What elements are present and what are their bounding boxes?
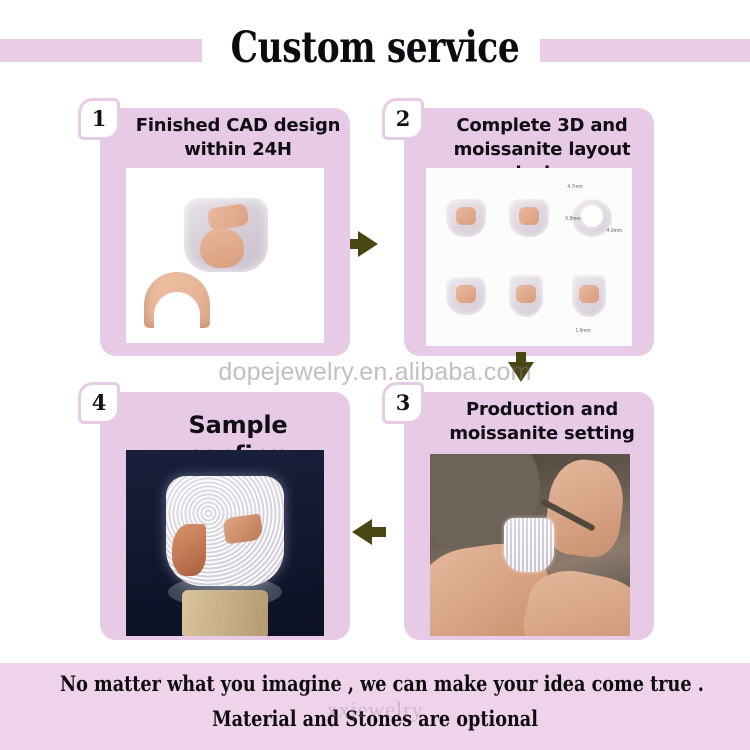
step-image-3 [430,454,630,636]
custom-service-infographic: Custom service 1 Finished CAD design wit… [0,0,750,750]
step-number-2: 2 [385,101,421,137]
layout-view-bottom [438,260,495,332]
ring-view-icon [509,199,549,237]
layout-view-front-dimensioned: 1.6mm [563,260,620,332]
ring-view-icon [509,275,543,317]
cad-band-icon [144,272,210,328]
ring-view-icon [572,275,606,317]
step-number-badge-3: 3 [382,382,424,424]
step-number-3: 3 [385,385,421,421]
step-card-3: 3 Production and moissanite setting [404,392,654,640]
arrow-left-icon [352,519,372,545]
step-card-4: 4 Sample confirm [100,392,350,640]
ring-in-progress-icon [504,518,554,572]
step-label-1: Finished CAD design within 24H [134,114,342,162]
footer-line-2: Material and Stones are optional [60,706,690,731]
layout-view-front [501,260,558,332]
arrow-right-icon [358,231,378,257]
step-image-4 [126,450,324,636]
layout-view-grid: 4.7mm 5.8mm 4.9mm 1.6mm [438,182,620,332]
step-number-badge-1: 1 [78,98,120,140]
dimension-label: 4.9mm [607,228,622,234]
cad-ring-icon [184,198,268,272]
footer-line-1: No matter what you imagine , we can make… [60,671,690,696]
ring-view-icon [446,277,486,315]
step-number-badge-2: 2 [382,98,424,140]
step-card-1: 1 Finished CAD design within 24H [100,108,350,356]
dimension-label: 1.6mm [575,328,590,334]
layout-view-perspective [501,182,558,254]
ring-emblem [222,513,263,544]
display-stand-icon [182,590,268,636]
step-number-badge-4: 4 [78,382,120,424]
layout-view-top [438,182,495,254]
step-label-3: Production and moissanite setting [438,398,646,446]
page-title: Custom service [75,10,675,86]
step-image-2: 4.7mm 5.8mm 4.9mm 1.6mm [426,168,632,346]
ring-view-icon [446,199,486,237]
step-number-4: 4 [81,385,117,421]
dimension-label: 4.7mm [567,184,582,190]
arrow-down-icon [508,362,534,382]
footer-banner: No matter what you imagine , we can make… [0,663,750,750]
header: Custom service [0,10,750,90]
dimension-label: 5.8mm [565,216,580,222]
layout-view-side-dimensioned: 4.7mm 5.8mm 4.9mm [563,182,620,254]
step-number-1: 1 [81,101,117,137]
step-image-1 [126,168,324,343]
finished-ring-icon [166,476,284,586]
cad-ring-plate [207,203,250,231]
step-card-2: 2 Complete 3D and moissanite layout desi… [404,108,654,356]
